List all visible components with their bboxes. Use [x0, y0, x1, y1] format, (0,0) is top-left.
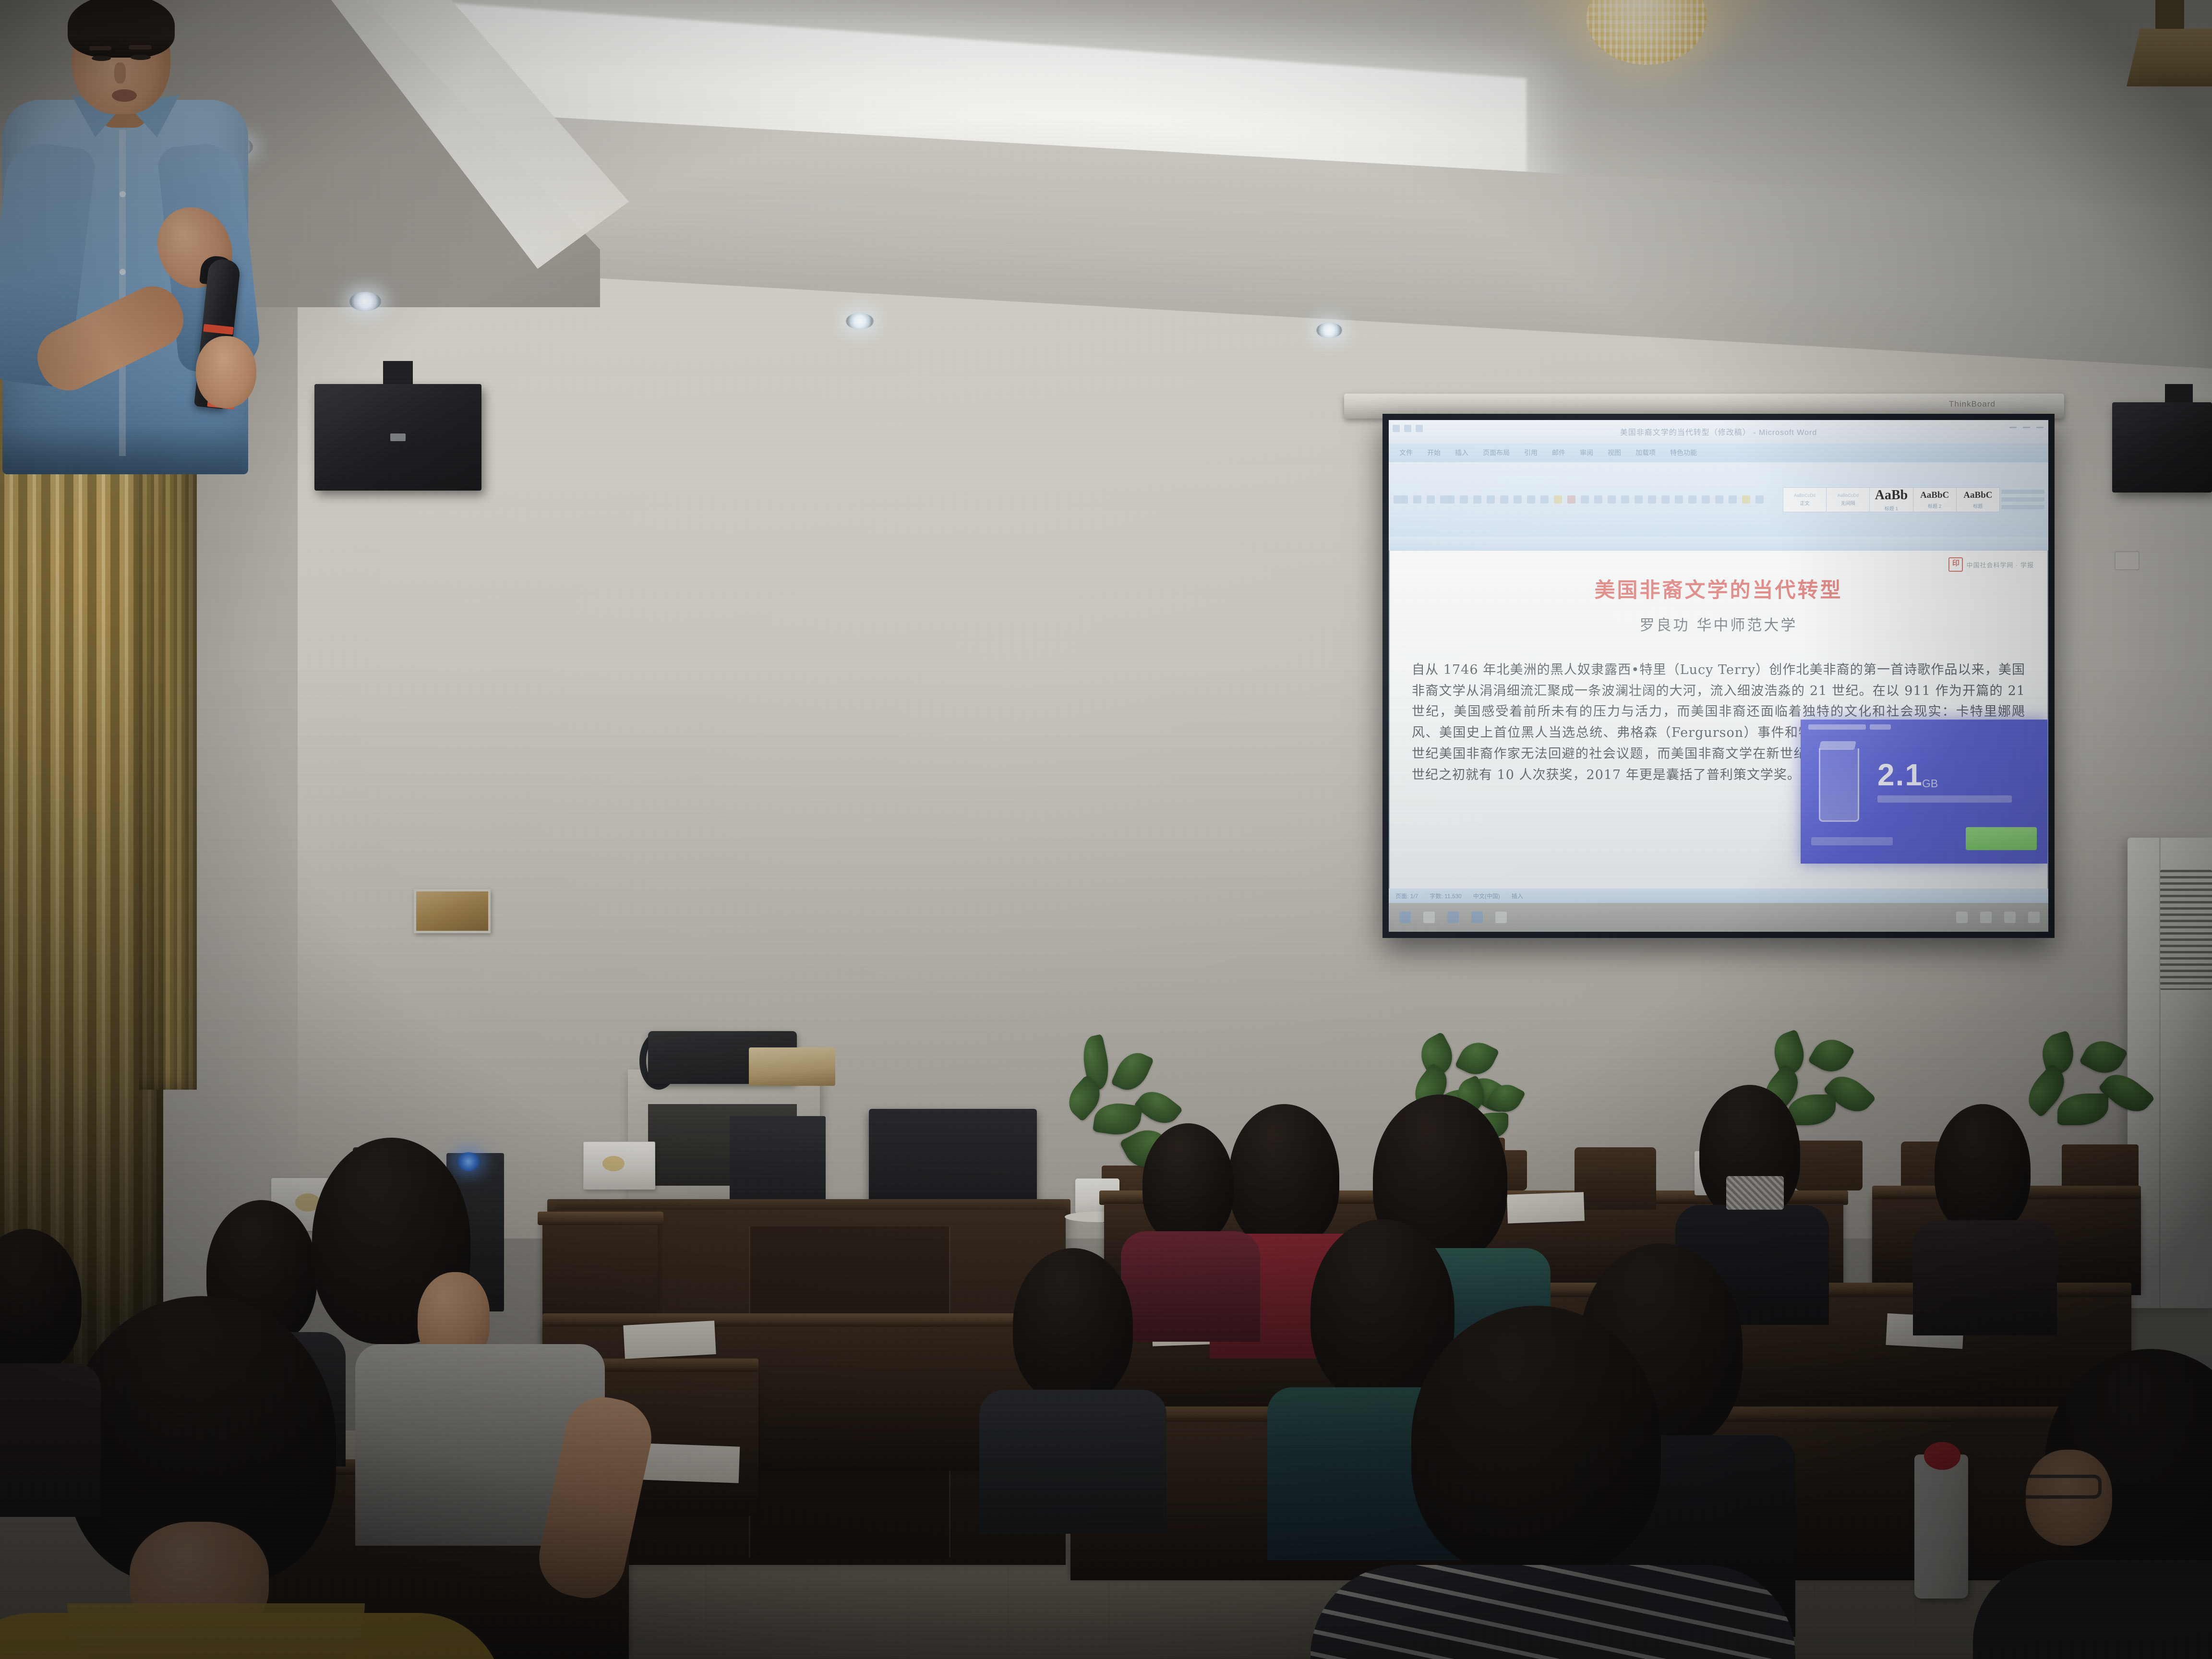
left-wall-speaker — [314, 384, 481, 491]
potted-plant-4 — [2021, 1032, 2179, 1190]
audience-hair — [1411, 1306, 1661, 1575]
chandelier-drop — [1587, 0, 1707, 65]
start-icon[interactable] — [1399, 912, 1411, 923]
popup-header-title — [1808, 724, 1866, 730]
tab-view[interactable]: 视图 — [1608, 448, 1621, 457]
font-size-box[interactable] — [1460, 495, 1468, 504]
italic-icon[interactable] — [1514, 495, 1522, 504]
white-thermos — [1914, 1455, 1968, 1599]
presenter-hair — [68, 0, 175, 58]
audience-hair — [1229, 1104, 1339, 1248]
bullets-icon[interactable] — [1581, 495, 1589, 504]
air-conditioner-grill — [2160, 870, 2212, 990]
media-icon[interactable] — [1495, 912, 1507, 923]
plant-pot — [1795, 1141, 1863, 1190]
tab-addins[interactable]: 加载项 — [1635, 448, 1656, 457]
justify-icon[interactable] — [1715, 495, 1723, 504]
projected-image: 美国非裔文学的当代转型（修改稿） - Microsoft Word 文件 开始 … — [1389, 420, 2048, 932]
document-title: 美国非裔文学的当代转型 — [1412, 574, 2025, 603]
style-preview: AaBb — [1875, 488, 1908, 503]
borders-icon[interactable] — [1755, 495, 1764, 504]
handout-paper — [1507, 1192, 1585, 1224]
tissue-box-label — [602, 1156, 625, 1171]
audience-scarf — [1726, 1176, 1784, 1210]
document-header-logo: 印 中国社会科学网 · 学报 — [1948, 557, 2034, 572]
shrink-font-icon[interactable] — [1487, 495, 1495, 504]
plant-leaf — [1486, 1079, 1526, 1118]
document-author: 罗良功 华中师范大学 — [1412, 613, 2025, 635]
style-preview: AaBbC — [1920, 490, 1949, 501]
window-title: 美国非裔文学的当代转型（修改稿） - Microsoft Word — [1620, 426, 1817, 437]
presenter-nose — [114, 62, 126, 84]
redo-icon[interactable] — [1416, 425, 1423, 432]
popup-footer-text — [1811, 837, 1893, 845]
window-controls[interactable] — [2009, 427, 2044, 428]
audience-shoulders — [1973, 1560, 2212, 1659]
align-left-icon[interactable] — [1675, 495, 1683, 504]
ribbon-command-groups[interactable] — [1389, 490, 1781, 509]
popup-header — [1808, 724, 1891, 730]
network-icon[interactable] — [1956, 912, 1968, 923]
cut-icon[interactable] — [1413, 495, 1421, 504]
downlight-icon — [349, 292, 381, 311]
copy-icon[interactable] — [1427, 495, 1435, 504]
plant-leaf — [2057, 1094, 2108, 1125]
font-name-box[interactable] — [1440, 495, 1455, 504]
presenter-shirt-placket — [119, 130, 126, 456]
document-header-text: 中国社会科学网 · 学报 — [1966, 560, 2034, 569]
status-insert-mode: 插入 — [1512, 892, 1523, 900]
popup-header-sub — [1870, 724, 1891, 730]
pendant-light — [2127, 29, 2212, 86]
volume-icon[interactable] — [1980, 912, 1992, 923]
paper-box — [749, 1047, 835, 1086]
maximize-icon[interactable] — [2023, 427, 2030, 428]
style-heading-2[interactable]: AaBbC 标题 2 — [1913, 487, 1957, 512]
shirt-button — [120, 269, 126, 275]
audience-hair — [1013, 1248, 1133, 1402]
grow-font-icon[interactable] — [1473, 495, 1481, 504]
speaker-power-led — [456, 1152, 481, 1171]
speaker-logo-icon — [390, 433, 406, 441]
plant-leaf — [1093, 1100, 1142, 1138]
clock-icon[interactable] — [2028, 912, 2040, 923]
document-ruler[interactable] — [1389, 537, 2048, 551]
presenter-eye — [131, 55, 151, 60]
thermos-cap — [1924, 1442, 1960, 1470]
windows-taskbar[interactable] — [1389, 903, 2048, 932]
minimize-icon[interactable] — [2009, 427, 2017, 428]
tab-features[interactable]: 特色功能 — [1670, 448, 1697, 457]
save-icon[interactable] — [1393, 425, 1400, 432]
style-label: 标题 — [1973, 502, 1983, 509]
presenter-mic-hand — [196, 336, 256, 408]
line-spacing-icon[interactable] — [1729, 495, 1737, 504]
underline-icon[interactable] — [1527, 495, 1535, 504]
word-title-bar: 美国非裔文学的当代转型（修改稿） - Microsoft Word — [1389, 420, 2048, 443]
tab-page-layout[interactable]: 页面布局 — [1483, 448, 1510, 457]
presenter-mouth — [112, 89, 137, 102]
show-marks-icon[interactable] — [1661, 495, 1670, 504]
tab-insert[interactable]: 插入 — [1455, 448, 1468, 457]
highlight-icon[interactable] — [1554, 495, 1562, 504]
style-title[interactable]: AaBbC 标题 — [1956, 487, 2000, 512]
style-label: 无间隔 — [1841, 499, 1855, 506]
glass-cup-icon — [1819, 748, 1859, 822]
cleanup-notification-popup[interactable]: 2.1 GB — [1801, 720, 2047, 864]
shading-icon[interactable] — [1742, 495, 1750, 504]
browser-icon[interactable] — [1447, 912, 1459, 923]
tab-review[interactable]: 审阅 — [1580, 448, 1593, 457]
audience-hair — [1142, 1123, 1234, 1243]
find-button[interactable] — [2001, 490, 2044, 494]
undo-icon[interactable] — [1404, 425, 1411, 432]
sort-icon[interactable] — [1648, 495, 1656, 504]
style-normal[interactable]: AaBbCcDd 正文 — [1783, 487, 1827, 512]
wall-outlet — [2115, 551, 2140, 570]
cleanup-size-unit: GB — [1922, 777, 1938, 790]
popup-subtext — [1877, 795, 2012, 803]
plant-leaf — [2079, 1034, 2128, 1081]
plant-leaf — [1111, 1047, 1154, 1096]
style-label: 正文 — [1800, 499, 1810, 506]
tab-references[interactable]: 引用 — [1524, 448, 1538, 457]
audience-shoulders — [1913, 1220, 2057, 1335]
style-label: 标题 1 — [1885, 505, 1898, 512]
lecture-room-photo: ThinkBoard 美国非裔文学的当代转型（修改稿） - Microsoft … — [0, 0, 2212, 1659]
select-button[interactable] — [2001, 505, 2044, 509]
align-center-icon[interactable] — [1688, 495, 1696, 504]
multilevel-list-icon[interactable] — [1608, 495, 1616, 504]
bold-icon[interactable] — [1500, 495, 1508, 504]
style-gallery[interactable]: AaBbCcDd 正文 AaBbCcDd 无间隔 AaBb 标题 1 AaBbC… — [1781, 483, 2001, 516]
red-stamp-icon: 印 — [1948, 557, 1963, 572]
word-icon[interactable] — [1471, 912, 1483, 923]
pendant-light-stem — [2155, 0, 2184, 34]
status-page: 页面: 1/7 — [1395, 892, 1418, 900]
downlight-icon — [1316, 323, 1342, 338]
style-no-spacing[interactable]: AaBbCcDd 无间隔 — [1826, 487, 1870, 512]
audience-shoulders — [0, 1363, 101, 1517]
style-preview: AaBbCcDd — [1837, 493, 1859, 498]
projection-screen: 美国非裔文学的当代转型（修改稿） - Microsoft Word 文件 开始 … — [1382, 414, 2055, 938]
decrease-indent-icon[interactable] — [1621, 495, 1629, 504]
close-icon[interactable] — [2036, 427, 2044, 428]
clean-now-button[interactable] — [1966, 827, 2037, 850]
tab-mailings[interactable]: 邮件 — [1552, 448, 1565, 457]
bench-end-panel — [1575, 1147, 1656, 1210]
ribbon-tabs[interactable]: 文件 开始 插入 页面布局 引用 邮件 审阅 视图 加载项 特色功能 — [1389, 443, 2048, 462]
increase-indent-icon[interactable] — [1635, 495, 1643, 504]
tab-home[interactable]: 开始 — [1427, 448, 1441, 457]
eyeglasses-icon — [2020, 1475, 2102, 1499]
numbering-icon[interactable] — [1594, 495, 1602, 504]
screen-brand-label: ThinkBoard — [1949, 399, 1996, 409]
strikethrough-icon[interactable] — [1540, 495, 1549, 504]
side-desk-top — [538, 1212, 663, 1225]
status-language: 中文(中国) — [1473, 892, 1500, 900]
right-wall-speaker — [2112, 402, 2212, 493]
explorer-icon[interactable] — [1423, 912, 1435, 923]
plant-pot — [2062, 1144, 2139, 1190]
crystal-chandelier — [1512, 0, 1781, 58]
audience-shoulders — [979, 1390, 1166, 1534]
presenter-eyebrow — [129, 45, 152, 49]
presenter-eyebrow — [89, 46, 111, 50]
quick-access-toolbar[interactable] — [1393, 425, 1423, 432]
font-color-icon[interactable] — [1567, 495, 1575, 504]
ime-icon[interactable] — [2004, 912, 2016, 923]
replace-button[interactable] — [2001, 497, 2044, 502]
plant-leaf — [1807, 1032, 1855, 1079]
tab-file[interactable]: 文件 — [1399, 448, 1413, 457]
handout-paper — [638, 1443, 740, 1483]
style-label: 标题 2 — [1928, 502, 1941, 509]
document-page[interactable]: 印 中国社会科学网 · 学报 美国非裔文学的当代转型 罗良功 华中师范大学 自从… — [1390, 551, 2047, 889]
shirt-button — [120, 191, 126, 197]
speaker-bracket — [383, 361, 413, 384]
downlight-icon — [846, 313, 874, 329]
cleanup-size-value: 2.1 — [1877, 757, 1923, 793]
paste-icon[interactable] — [1394, 495, 1408, 504]
handout-paper — [623, 1321, 716, 1359]
brass-wall-plaque — [414, 889, 491, 933]
presenter-eye — [92, 56, 111, 61]
audience-shoulders — [1121, 1231, 1260, 1342]
document-canvas[interactable]: 印 中国社会科学网 · 学报 美国非裔文学的当代转型 罗良功 华中师范大学 自从… — [1389, 551, 2048, 889]
audience-hair — [1935, 1104, 2031, 1234]
status-words: 字数: 11,530 — [1430, 892, 1461, 900]
plant-leaf — [1788, 1094, 1836, 1125]
ribbon[interactable]: AaBbCcDd 正文 AaBbCcDd 无间隔 AaBb 标题 1 AaBbC… — [1389, 462, 2048, 537]
blouse-collar — [67, 1603, 365, 1659]
style-preview: AaBbC — [1963, 490, 1992, 501]
audience-striped-shirt — [1310, 1565, 1795, 1659]
align-right-icon[interactable] — [1702, 495, 1710, 504]
status-bar[interactable]: 页面: 1/7 字数: 11,530 中文(中国) 插入 — [1389, 889, 2048, 903]
editing-group[interactable] — [2001, 490, 2048, 509]
style-heading-1[interactable]: AaBb 标题 1 — [1869, 487, 1913, 512]
style-preview: AaBbCcDd — [1794, 493, 1815, 498]
